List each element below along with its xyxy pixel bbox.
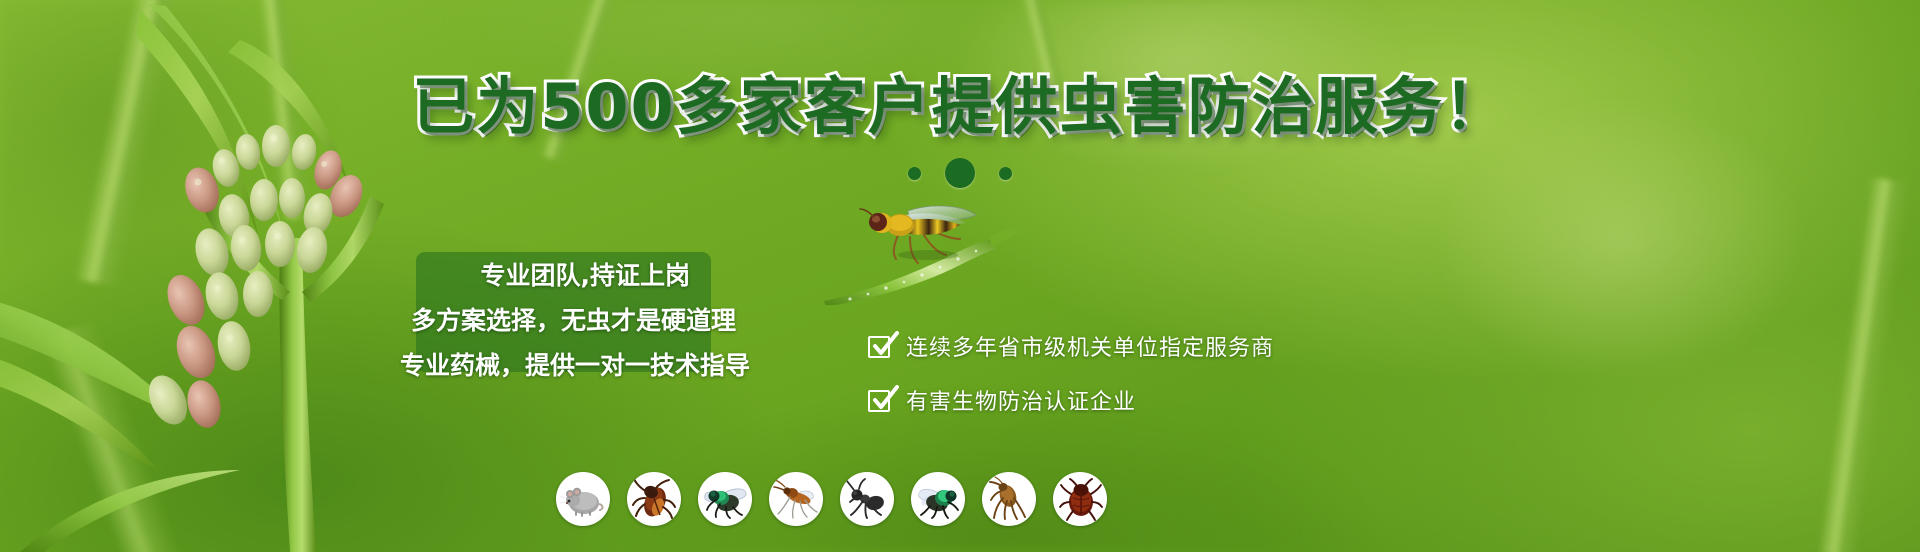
credential-label: 连续多年省市级机关单位指定服务商 — [906, 330, 1274, 362]
promo-line-1: 专业团队,持证上岗 — [481, 256, 691, 292]
checkbox-checked-icon — [868, 387, 895, 414]
credentials-list: 连续多年省市级机关单位指定服务商 有害生物防治认证企业 — [868, 330, 1274, 416]
blowfly-icon — [911, 472, 965, 526]
bedbug-icon — [1053, 472, 1107, 526]
cockroach-icon — [627, 472, 681, 526]
credential-item: 连续多年省市级机关单位指定服务商 — [868, 330, 1274, 362]
dot-large-center-icon — [945, 158, 975, 188]
pest-type-icon-row — [556, 472, 1107, 526]
hoverfly-on-leaf-illustration — [820, 195, 1050, 305]
fly-icon — [698, 472, 752, 526]
ant-icon — [840, 472, 894, 526]
credential-label: 有害生物防治认证企业 — [906, 384, 1136, 416]
dot-small-left-icon — [908, 167, 921, 180]
checkbox-checked-icon — [868, 333, 895, 360]
pest-control-hero-banner: 已为500多家客户提供虫害防治服务！ — [0, 0, 1920, 552]
decorative-dot-group — [0, 158, 1920, 188]
mosquito-icon — [769, 472, 823, 526]
dot-small-right-icon — [999, 167, 1012, 180]
credential-item: 有害生物防治认证企业 — [868, 384, 1274, 416]
flea-icon — [982, 472, 1036, 526]
promo-text-group: 专业团队,持证上岗 多方案选择，无虫才是硬道理 专业药械，提供一对一技术指导 — [330, 256, 750, 382]
promo-line-2: 多方案选择，无虫才是硬道理 — [411, 301, 736, 337]
mouse-icon — [556, 472, 610, 526]
promo-line-3: 专业药械，提供一对一技术指导 — [400, 346, 750, 382]
